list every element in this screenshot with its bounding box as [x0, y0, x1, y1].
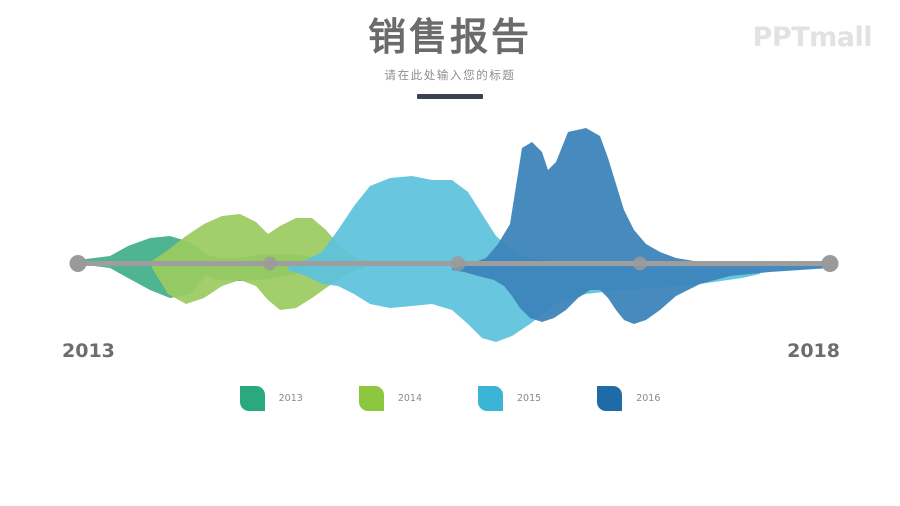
- legend-label: 2015: [517, 393, 541, 404]
- legend-item-2015[interactable]: 2015: [478, 386, 541, 411]
- title-underline-rule: [417, 94, 483, 99]
- axis-start-label: 2013: [62, 340, 115, 362]
- streamgraph-svg: [0, 118, 900, 358]
- axis-marker-end[interactable]: [822, 255, 839, 272]
- legend-item-2013[interactable]: 2013: [240, 386, 303, 411]
- legend-swatch-icon: [359, 386, 384, 411]
- legend-label: 2014: [398, 393, 422, 404]
- legend-item-2014[interactable]: 2014: [359, 386, 422, 411]
- slide-root: 销售报告 请在此处输入您的标题 PPTmall 2013 2018: [0, 0, 900, 506]
- streamgraph-chart: 2013 2018: [0, 118, 900, 358]
- legend-swatch-icon: [240, 386, 265, 411]
- legend-label: 2013: [279, 393, 303, 404]
- axis-marker-start[interactable]: [70, 255, 87, 272]
- axis-marker-4[interactable]: [633, 257, 647, 271]
- axis-marker-2[interactable]: [263, 257, 277, 271]
- legend-label: 2016: [636, 393, 660, 404]
- pptmall-logo: PPTmall: [753, 22, 872, 53]
- axis-end-label: 2018: [787, 340, 840, 362]
- chart-legend: 2013 2014 2015 2016: [0, 386, 900, 411]
- legend-swatch-icon: [597, 386, 622, 411]
- axis-marker-3[interactable]: [451, 256, 466, 271]
- legend-item-2016[interactable]: 2016: [597, 386, 660, 411]
- legend-swatch-icon: [478, 386, 503, 411]
- page-subtitle: 请在此处输入您的标题: [0, 67, 900, 83]
